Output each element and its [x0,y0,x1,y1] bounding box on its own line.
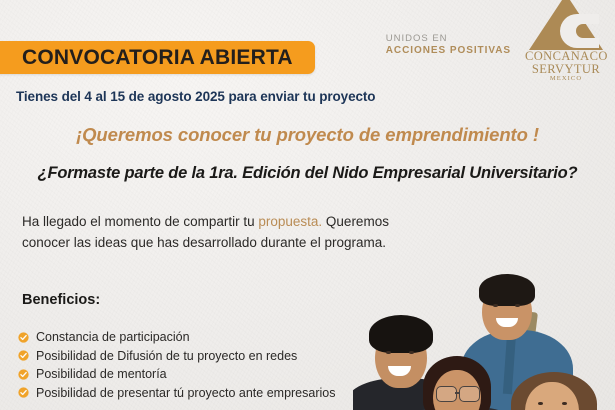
students-photo [353,260,615,410]
list-item: Posibilidad de Difusión de tu proyecto e… [18,347,335,366]
logo-line-3: MEXICO [525,76,607,83]
brand-tagline: UNIDOS EN ACCIONES POSITIVAS [386,0,511,58]
eye [409,351,414,354]
deadline-text: Tienes del 4 al 15 de agosto 2025 para e… [16,89,375,104]
glasses-right-lens [459,386,480,402]
hair [369,315,433,353]
benefits-list: Constancia de participación Posibilidad … [18,328,335,402]
list-item-label: Posibilidad de mentoría [36,367,167,381]
subheadline-text: ¿Formaste parte de la 1ra. Edición del N… [0,164,615,183]
body-paragraph: Ha llegado el momento de compartir tu pr… [22,212,422,254]
concanaco-logo: CONCANACO SERVYTUR MEXICO [525,0,607,83]
paragraph-highlight: propuesta. [258,214,322,229]
eye [493,304,498,307]
list-item: Posibilidad de mentoría [18,365,335,384]
banner-label: CONVOCATORIA ABIERTA [22,46,293,70]
list-item: Posibilidad de presentar tú proyecto ant… [18,384,335,403]
paragraph-part-1: Ha llegado el momento de compartir tu [22,214,258,229]
eye [562,402,567,405]
convocatoria-banner: CONVOCATORIA ABIERTA [0,41,315,74]
eye [515,304,520,307]
glasses-left-lens [436,386,457,402]
tagline-line-2: ACCIONES POSITIVAS [386,45,511,58]
eye [538,402,543,405]
check-circle-icon [18,387,29,398]
list-item-label: Posibilidad de presentar tú proyecto ant… [36,386,335,400]
benefits-heading: Beneficios: [22,292,100,308]
concanaco-triangle-c-logo-icon [529,0,603,50]
check-circle-icon [18,332,29,343]
poster-canvas: UNIDOS EN ACCIONES POSITIVAS CONCANACO S… [0,0,615,410]
tagline-line-1: UNIDOS EN [386,33,511,45]
eye [386,351,391,354]
hair [479,274,535,306]
list-item-label: Constancia de participación [36,330,190,344]
logo-line-2: SERVYTUR [525,63,607,76]
check-circle-icon [18,350,29,361]
list-item-label: Posibilidad de Difusión de tu proyecto e… [36,349,297,363]
glasses-bridge [455,392,459,394]
check-circle-icon [18,369,29,380]
headline-text: ¡Queremos conocer tu proyecto de emprend… [0,124,615,146]
list-item: Constancia de participación [18,328,335,347]
logo-line-1: CONCANACO [525,50,607,63]
brand-block: UNIDOS EN ACCIONES POSITIVAS CONCANACO S… [386,0,607,83]
